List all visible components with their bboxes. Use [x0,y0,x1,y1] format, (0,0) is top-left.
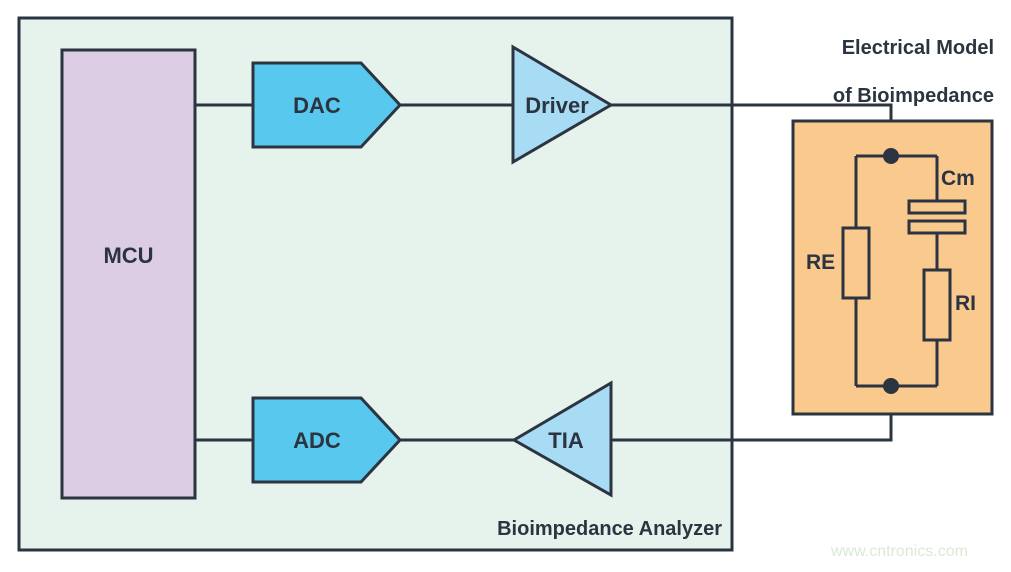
re-label: RE [806,251,835,276]
cm-capacitor-plate-bottom [909,221,965,233]
mcu-label: MCU [62,243,195,269]
driver-label: Driver [513,93,601,119]
bioimpedance-analyzer-label: Bioimpedance Analyzer [432,518,722,542]
tia-label: TIA [528,428,604,454]
dac-label: DAC [253,93,381,119]
adc-label: ADC [253,428,381,454]
model-bottom-junction-node [883,378,899,394]
model-title: Electrical Model of Bioimpedance [742,12,994,132]
diagram-canvas: MCU DAC Driver ADC TIA Bioimpedance Anal… [0,0,1011,572]
model-top-junction-node [883,148,899,164]
ri-resistor-symbol [924,270,950,340]
re-resistor-symbol [843,228,869,298]
model-title-line2: of Bioimpedance [833,85,994,107]
mcu-block[interactable] [62,50,195,498]
model-title-line1: Electrical Model [842,37,994,59]
cm-capacitor-plate-top [909,201,965,213]
site-watermark: www.cntronics.com [831,543,968,561]
cm-label: Cm [941,167,975,192]
ri-label: RI [955,292,976,317]
